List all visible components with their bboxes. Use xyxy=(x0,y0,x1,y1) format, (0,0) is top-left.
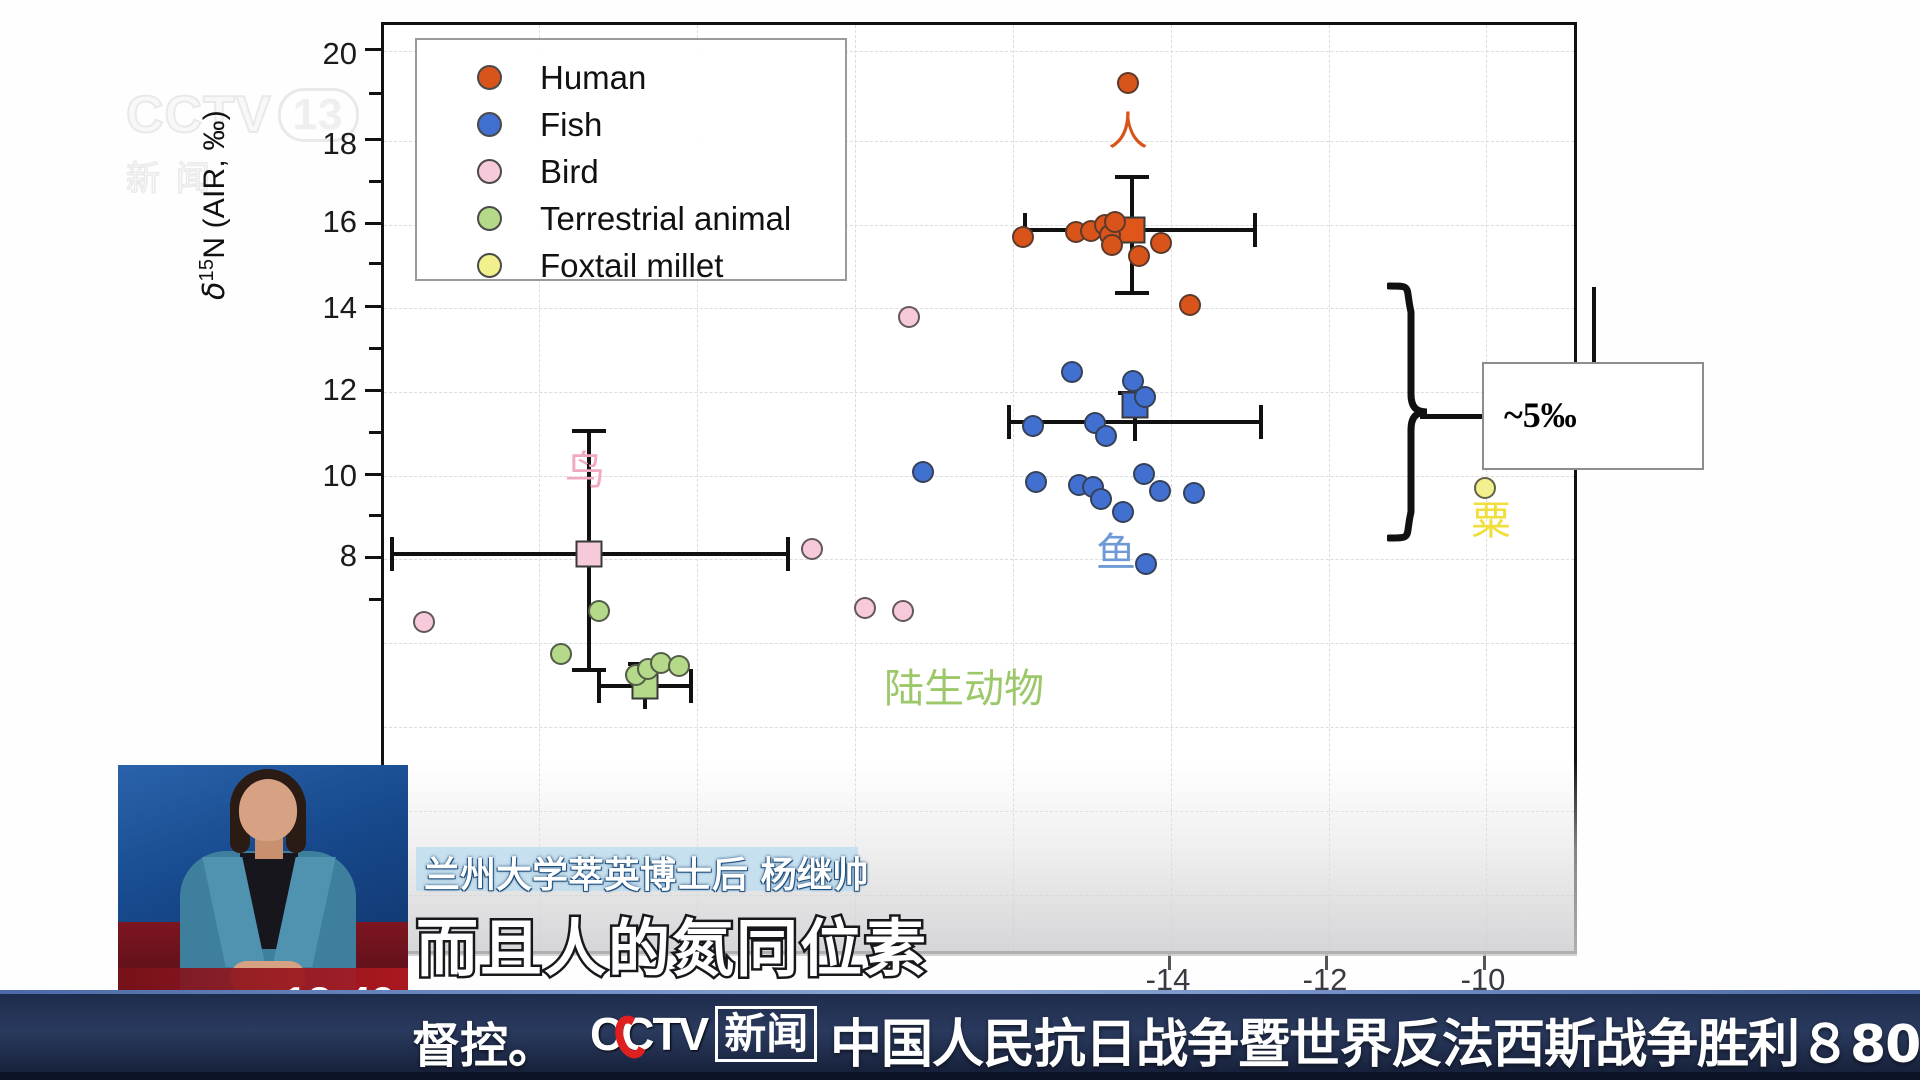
y-axis-title: δ15N (AIR, ‰) xyxy=(196,0,232,300)
y-tick-mark xyxy=(365,389,381,392)
legend-label-foxtail-millet: Foxtail millet xyxy=(540,247,723,285)
error-bar-cap-fish-right xyxy=(1259,405,1263,439)
difference-bracket xyxy=(1387,282,1431,542)
data-point-bird xyxy=(892,600,914,622)
data-point-fish xyxy=(1133,463,1155,485)
error-bar-cap-human-top xyxy=(1115,175,1149,179)
y-tick-mark xyxy=(365,473,381,476)
data-point-fish xyxy=(1090,488,1112,510)
legend-label-bird: Bird xyxy=(540,153,599,191)
y-tick-label-16: 16 xyxy=(267,204,357,240)
data-point-fish xyxy=(1134,386,1156,408)
y-tick-mark xyxy=(365,222,381,225)
error-bar-cap-terr-left xyxy=(597,669,601,703)
data-point-fish xyxy=(1183,482,1205,504)
ticker-logo-cctv-label: CCTV xyxy=(590,1008,707,1060)
y-tick-mark-minor xyxy=(369,262,381,265)
error-bar-cap-fish-left xyxy=(1007,405,1011,439)
data-point-human xyxy=(1128,245,1150,267)
error-bar-cap-terr-right xyxy=(689,669,693,703)
gridline-vertical xyxy=(1171,25,1172,951)
gridline-vertical xyxy=(855,25,856,951)
y-tick-label-18: 18 xyxy=(267,126,357,162)
ticker-logo-news-label: 新闻 xyxy=(715,1006,817,1062)
gridline-horizontal xyxy=(384,727,1574,728)
legend-label-fish: Fish xyxy=(540,106,602,144)
y-tick-mark xyxy=(365,48,381,51)
gridline-horizontal xyxy=(384,811,1574,812)
group-annotation-bird: 鸟 xyxy=(565,438,605,496)
y-tick-mark xyxy=(365,305,381,308)
data-point-fish xyxy=(1022,415,1044,437)
y-tick-label-8: 8 xyxy=(267,538,357,574)
legend-swatch-fish xyxy=(477,112,502,137)
gridline-horizontal xyxy=(384,559,1574,560)
data-point-bird xyxy=(801,538,823,560)
y-tick-mark-minor xyxy=(369,514,381,517)
data-point-human xyxy=(1150,232,1172,254)
data-point-terrestrial xyxy=(550,643,572,665)
y-tick-label-12: 12 xyxy=(267,372,357,408)
data-point-fish xyxy=(1149,480,1171,502)
data-point-fish xyxy=(1061,361,1083,383)
group-annotation-fish: 鱼 xyxy=(1096,520,1136,578)
group-annotation-terrestrial-animal: 陆生动物 xyxy=(884,656,1044,714)
error-bar-cap-bird-right xyxy=(786,537,790,571)
anchor-face xyxy=(239,779,297,841)
y-tick-mark-minor xyxy=(369,92,381,95)
ticker-previous-text: 督控。 xyxy=(412,1006,556,1076)
y-tick-mark-minor xyxy=(369,431,381,434)
data-point-terrestrial xyxy=(588,600,610,622)
y-tick-label-14: 14 xyxy=(267,290,357,326)
group-annotation-human: 人 xyxy=(1108,99,1148,157)
y-tick-mark-minor xyxy=(369,347,381,350)
legend: Human Fish Bird Terrestrial animal Foxta… xyxy=(415,38,847,281)
data-point-fish xyxy=(912,461,934,483)
callout-leader-horizontal xyxy=(1420,414,1484,419)
callout-leader-vertical xyxy=(1592,287,1596,363)
data-point-human xyxy=(1104,211,1126,233)
data-point-human xyxy=(1179,294,1201,316)
legend-label-terrestrial-animal: Terrestrial animal xyxy=(540,200,791,238)
legend-swatch-foxtail-millet xyxy=(477,253,502,278)
legend-item-terrestrial-animal: Terrestrial animal xyxy=(417,195,845,242)
group-annotation-foxtail-millet: 粟 xyxy=(1471,488,1511,546)
y-tick-label-10: 10 xyxy=(267,458,357,494)
callout-box-5-permil: ~5‰ xyxy=(1482,362,1704,470)
data-point-human xyxy=(1101,234,1123,256)
data-point-bird xyxy=(413,611,435,633)
gridline-vertical xyxy=(1013,25,1014,951)
mean-marker-bird xyxy=(576,541,603,568)
legend-swatch-terrestrial-animal xyxy=(477,206,502,231)
data-point-fish xyxy=(1135,553,1157,575)
gridline-vertical xyxy=(1329,25,1330,951)
error-bar-cap-human-bottom xyxy=(1115,291,1149,295)
ticker-headline-text: 中国人民抗日战争暨世界反法西斯战争胜利８80周年 xyxy=(830,1002,1920,1077)
y-tick-mark xyxy=(365,138,381,141)
data-point-human xyxy=(1117,72,1139,94)
y-tick-mark-minor xyxy=(369,180,381,183)
error-bar-cap-bird-left xyxy=(390,537,394,571)
subtitle-caption: 而且人的氮同位素 xyxy=(416,898,928,988)
legend-item-foxtail-millet: Foxtail millet xyxy=(417,242,845,289)
error-bar-cap-bird-top xyxy=(572,429,606,433)
data-point-human xyxy=(1012,226,1034,248)
data-point-bird xyxy=(898,306,920,328)
callout-text: ~5‰ xyxy=(1504,394,1577,436)
legend-label-human: Human xyxy=(540,59,646,97)
y-tick-mark-minor xyxy=(369,598,381,601)
data-point-bird xyxy=(854,597,876,619)
legend-item-fish: Fish xyxy=(417,101,845,148)
legend-item-bird: Bird xyxy=(417,148,845,195)
error-bar-cap-human-right xyxy=(1253,213,1257,247)
y-tick-mark xyxy=(365,556,381,559)
legend-item-human: Human xyxy=(417,54,845,101)
ticker-top-rule xyxy=(0,990,1920,994)
guest-name-label: 兰州大学萃英博士后 杨继帅 xyxy=(424,846,869,898)
legend-swatch-human xyxy=(477,65,502,90)
legend-swatch-bird xyxy=(477,159,502,184)
data-point-fish xyxy=(1025,471,1047,493)
data-point-fish xyxy=(1095,425,1117,447)
y-tick-label-20: 20 xyxy=(267,36,357,72)
cctv-news-ticker-logo: CCTV 新闻 xyxy=(590,1004,817,1064)
data-point-terrestrial xyxy=(668,655,690,677)
ticker-logo-cctv-text: CCTV xyxy=(590,1007,707,1061)
